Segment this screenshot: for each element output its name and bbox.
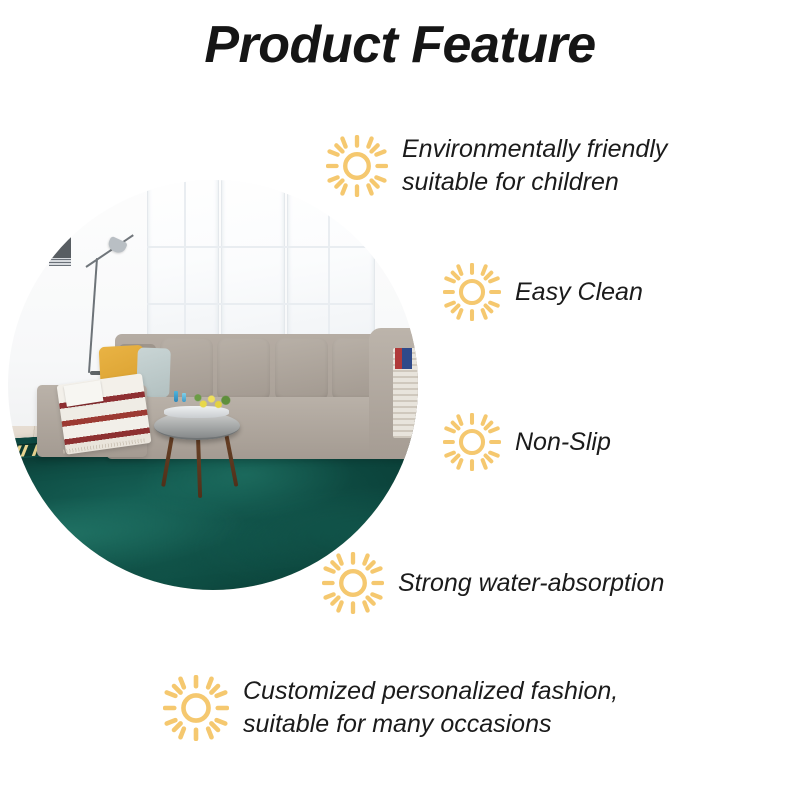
- sun-icon: [322, 552, 384, 614]
- sun-icon: [326, 135, 388, 197]
- window-mullion: [147, 246, 373, 248]
- feature-item-4: Strong water-absorption: [322, 552, 664, 614]
- sun-icon: [443, 263, 501, 321]
- feature-label: Environmentally friendly suitable for ch…: [402, 133, 667, 199]
- window-mullion: [147, 303, 373, 305]
- feature-item-3: Non-Slip: [443, 413, 611, 471]
- sofa-cushion: [275, 338, 328, 402]
- sun-icon: [443, 413, 501, 471]
- feature-item-1: Environmentally friendly suitable for ch…: [326, 133, 667, 199]
- feature-label: Easy Clean: [515, 276, 643, 309]
- page-title: Product Feature: [0, 14, 800, 76]
- blue-bottle: [174, 391, 178, 402]
- feature-item-2: Easy Clean: [443, 263, 643, 321]
- blue-bottle: [182, 393, 186, 402]
- product-photo: [8, 180, 418, 590]
- yellow-flowers: [193, 389, 234, 414]
- wall-art-detail: [49, 258, 71, 266]
- feature-label: Strong water-absorption: [398, 567, 664, 600]
- feature-label: Non-Slip: [515, 426, 611, 459]
- sun-icon: [163, 675, 229, 741]
- feature-item-5: Customized personalized fashion, suitabl…: [163, 675, 618, 741]
- arm-blanket-accent: [395, 348, 411, 369]
- wall-art-icon: [45, 233, 71, 259]
- living-room-scene: [8, 180, 418, 590]
- feature-label: Customized personalized fashion, suitabl…: [243, 675, 618, 741]
